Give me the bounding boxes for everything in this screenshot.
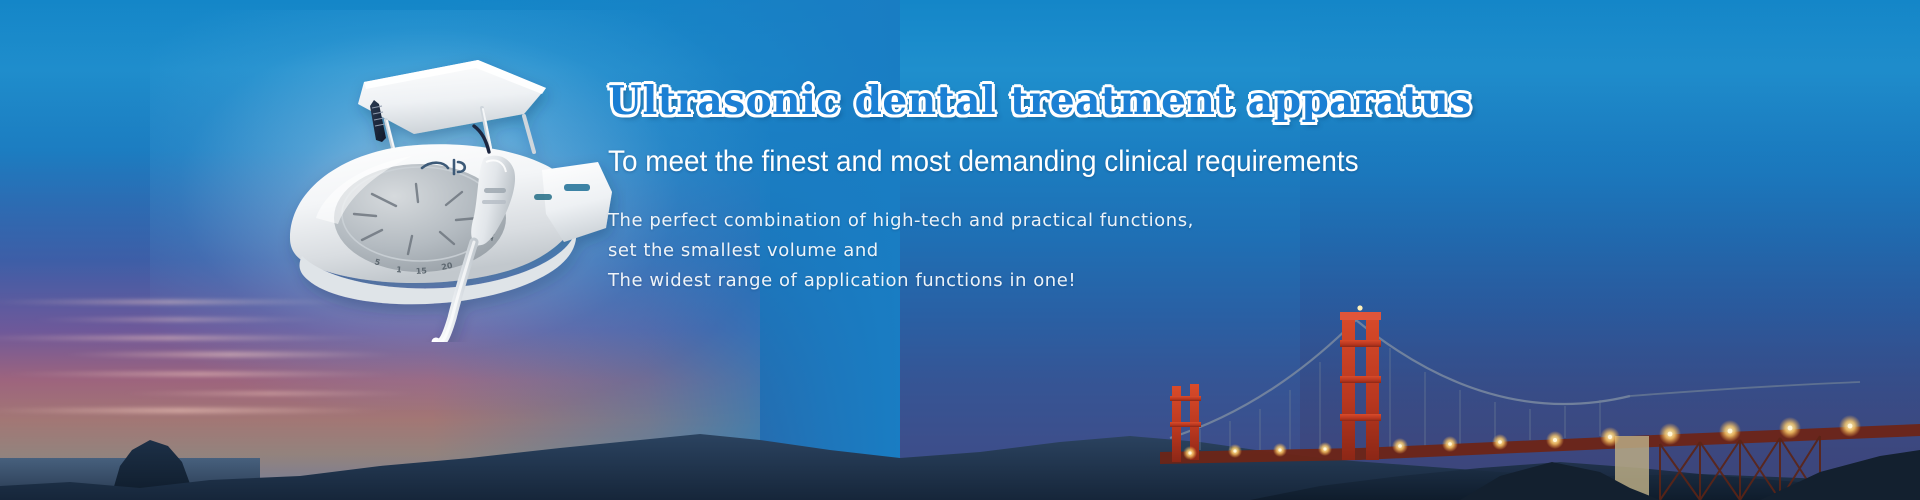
cloud-streak — [120, 392, 420, 395]
foreground-rocks — [1760, 450, 1920, 500]
banner-subtitle: To meet the finest and most demanding cl… — [608, 144, 1315, 180]
banner-title: Ultrasonic dental treatment apparatus — [608, 78, 1368, 124]
body-line-3: The widest range of application function… — [608, 266, 1368, 296]
rock-outcrop — [110, 440, 196, 500]
product-hero-banner: 20 15 1 5 10 — [0, 0, 1920, 500]
ultrasonic-dental-scaler-image: 20 15 1 5 10 — [246, 42, 626, 342]
body-line-1: The perfect combination of high-tech and… — [608, 206, 1368, 236]
bridge-tower-main — [1340, 305, 1381, 460]
cloud-streak — [60, 352, 400, 357]
cloud-streak — [0, 408, 390, 413]
banner-body: The perfect combination of high-tech and… — [608, 206, 1368, 296]
banner-copy: Ultrasonic dental treatment apparatus To… — [608, 78, 1368, 296]
svg-text:15: 15 — [416, 266, 428, 276]
cloud-streak — [0, 372, 400, 376]
led-indicator — [534, 194, 552, 200]
indicator-strip — [564, 184, 590, 191]
body-line-2: set the smallest volume and — [608, 236, 1368, 266]
